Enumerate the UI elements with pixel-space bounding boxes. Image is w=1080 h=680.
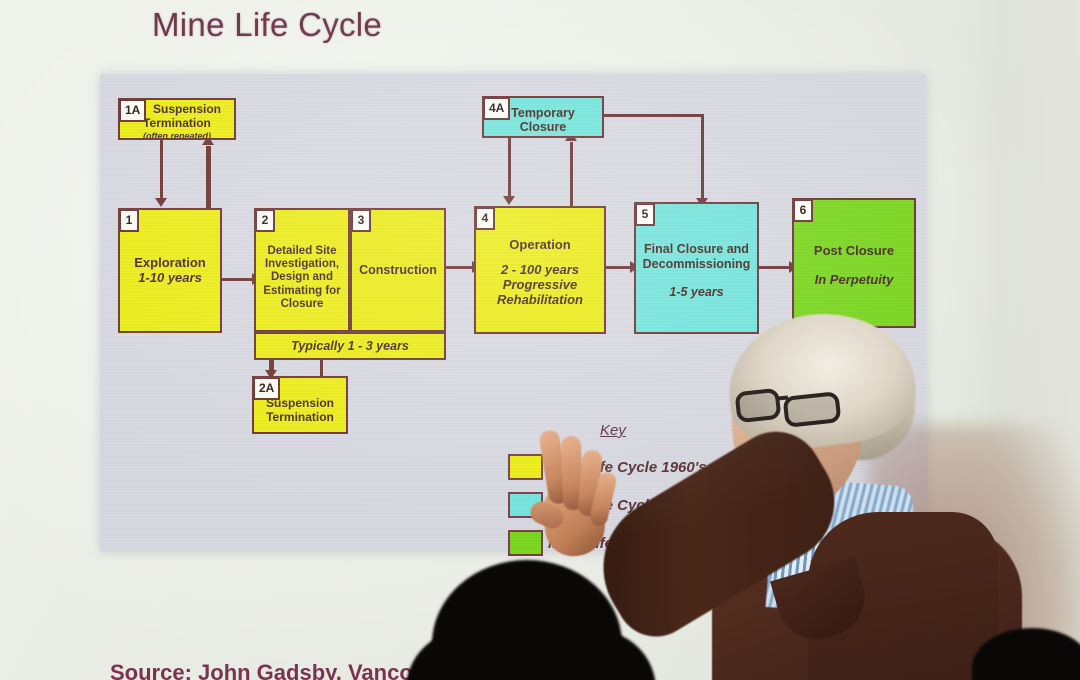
- presenter-hand: [526, 428, 618, 554]
- box-4-number: 4: [475, 207, 495, 230]
- audience-shoulders-1: [406, 630, 656, 680]
- box-2a-number: 2A: [253, 377, 280, 400]
- presenter-figure: [620, 300, 1080, 680]
- presenter-glasses: [732, 388, 858, 422]
- glasses-left-lens: [735, 388, 782, 423]
- box-5-number: 5: [635, 203, 655, 226]
- box-1a-number: 1A: [119, 99, 146, 122]
- box-6-number: 6: [793, 199, 813, 222]
- photo-of-projected-slide: Mine Life Cycle: [0, 0, 1080, 680]
- box-3-number: 3: [351, 209, 371, 232]
- page-title: Mine Life Cycle: [152, 6, 382, 44]
- glasses-right-lens: [783, 391, 842, 428]
- box-2-number: 2: [255, 209, 275, 232]
- box-4a-number: 4A: [483, 97, 510, 120]
- box-1-number: 1: [119, 209, 139, 232]
